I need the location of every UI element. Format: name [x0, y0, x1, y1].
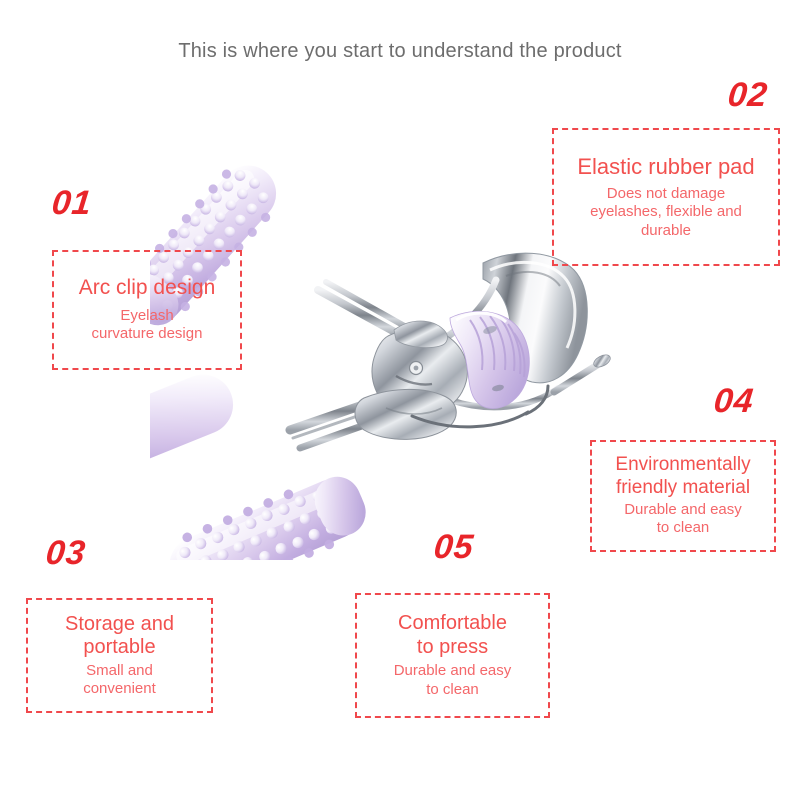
callout-subtitle-03: Small and convenient [83, 662, 156, 699]
callout-subtitle-line: to clean [624, 519, 742, 537]
upper-handle-rods [318, 282, 408, 336]
callout-number-03: 03 [44, 536, 87, 570]
callout-subtitle-04: Durable and easy to clean [624, 501, 742, 538]
callout-subtitle-line: eyelashes, flexible and [590, 203, 742, 221]
callout-subtitle-05: Durable and easy to clean [394, 662, 512, 699]
lower-grip-cover [150, 366, 242, 497]
callout-subtitle-02: Does not damage eyelashes, flexible and … [590, 185, 742, 240]
callout-heading-05: Comfortable to press [398, 612, 507, 659]
callout-heading-line: to press [398, 636, 507, 660]
callout-subtitle-line: convenient [83, 680, 156, 698]
callout-heading-01: Arc clip design [79, 276, 216, 301]
callout-heading-03: Storage and portable [65, 613, 174, 660]
callout-subtitle-line: Small and [83, 662, 156, 680]
callout-box-03[interactable]: Storage and portable Small and convenien… [26, 598, 213, 713]
callout-subtitle-line: Durable and easy [624, 501, 742, 519]
callout-box-04[interactable]: Environmentally friendly material Durabl… [590, 440, 776, 552]
callout-number-01: 01 [50, 186, 93, 220]
callout-number-04: 04 [712, 384, 755, 418]
callout-subtitle-line: Does not damage [590, 185, 742, 203]
callout-heading-line: Comfortable [398, 612, 507, 636]
callout-number-02: 02 [726, 78, 769, 112]
callout-heading-line: Storage and [65, 613, 174, 637]
callout-subtitle-01: Eyelash curvature design [92, 307, 203, 344]
callout-heading-line: Environmentally [615, 454, 750, 476]
callout-subtitle-line: durable [590, 222, 742, 240]
callout-box-05[interactable]: Comfortable to press Durable and easy to… [355, 593, 550, 718]
callout-heading-04: Environmentally friendly material [615, 454, 750, 499]
callout-heading-02: Elastic rubber pad [577, 154, 754, 180]
callout-heading-line: portable [65, 636, 174, 660]
callout-subtitle-line: to clean [394, 681, 512, 699]
callout-subtitle-line: Durable and easy [394, 662, 512, 680]
callout-subtitle-line: curvature design [92, 325, 203, 343]
page-title: This is where you start to understand th… [0, 40, 800, 63]
callout-box-02[interactable]: Elastic rubber pad Does not damage eyela… [552, 128, 780, 266]
infographic-page: This is where you start to understand th… [0, 0, 800, 800]
callout-number-05: 05 [432, 530, 475, 564]
lower-grip-cover-detail [158, 464, 376, 560]
callout-subtitle-line: Eyelash [92, 307, 203, 325]
callout-box-01[interactable]: Arc clip design Eyelash curvature design [52, 250, 242, 370]
callout-heading-line: friendly material [615, 477, 750, 499]
